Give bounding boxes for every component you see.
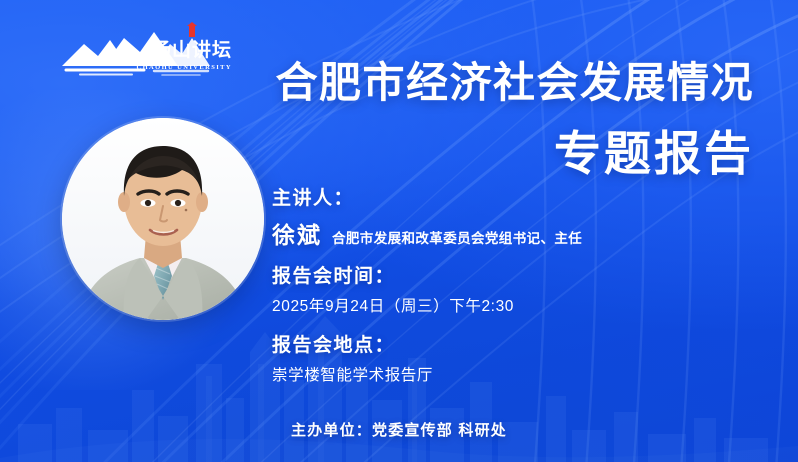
venue-value: 崇学楼智能学术报告厅 (272, 365, 582, 387)
poster-canvas: 汤山讲坛 CHAOHU UNIVERSITY (0, 0, 798, 462)
speaker-role: 合肥市发展和改革委员会党组书记、主任 (332, 227, 582, 247)
organizer-footer: 主办单位：党委宣传部 科研处 (0, 419, 798, 440)
event-details: 主讲人： 徐斌 合肥市发展和改革委员会党组书记、主任 报告会时间： 2025年9… (272, 186, 582, 387)
venue-label: 报告会地点： (272, 333, 582, 359)
time-label: 报告会时间： (272, 264, 582, 290)
speaker-row: 徐斌 合肥市发展和改革委员会党组书记、主任 (272, 216, 582, 250)
time-value: 2025年9月24日（周三）下午2:30 (272, 296, 582, 318)
headline-line-2: 专题报告 (0, 124, 754, 184)
headline-line-1: 合肥市经济社会发展情况 (0, 58, 754, 108)
speaker-name: 徐斌 (272, 216, 322, 250)
poster-headline: 合肥市经济社会发展情况 专题报告 (0, 58, 754, 184)
speaker-label: 主讲人： (272, 186, 582, 212)
